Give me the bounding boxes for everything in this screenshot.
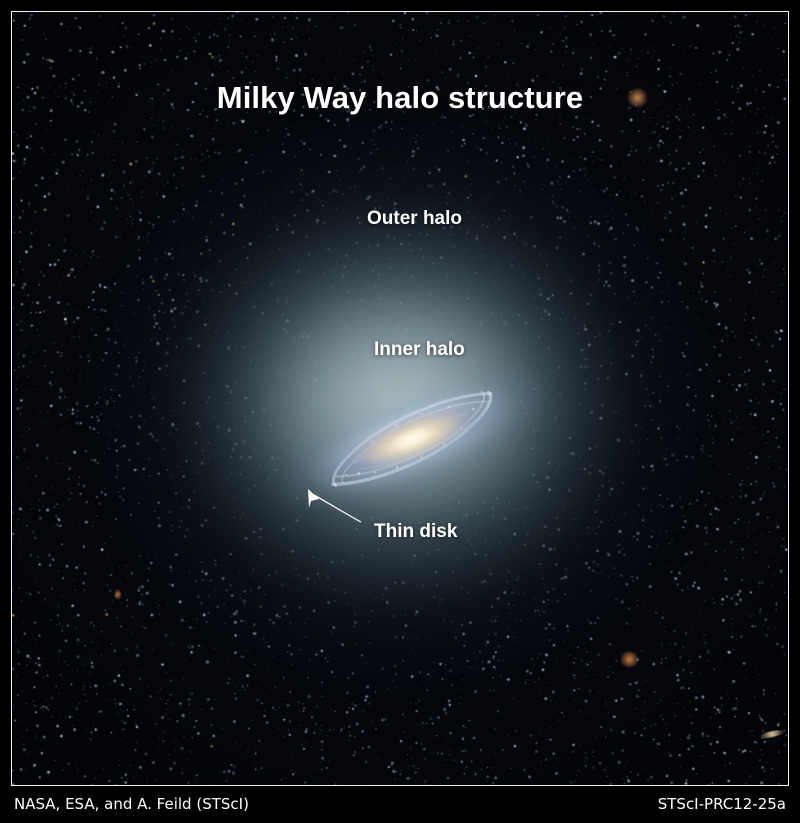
page-title: Milky Way halo structure <box>12 80 788 116</box>
caption-bar: NASA, ESA, and A. Feild (STScI) STScI-PR… <box>0 788 800 823</box>
credit-text: NASA, ESA, and A. Feild (STScI) <box>14 795 249 813</box>
label-thin-disk: Thin disk <box>374 521 457 543</box>
illustration-page: Milky Way halo structure Outer halo Inne… <box>0 0 800 823</box>
image-frame: Milky Way halo structure Outer halo Inne… <box>11 11 789 786</box>
label-outer-halo: Outer halo <box>367 208 462 230</box>
catalog-id-text: STScI-PRC12-25a <box>658 795 786 813</box>
label-inner-halo: Inner halo <box>374 339 465 361</box>
